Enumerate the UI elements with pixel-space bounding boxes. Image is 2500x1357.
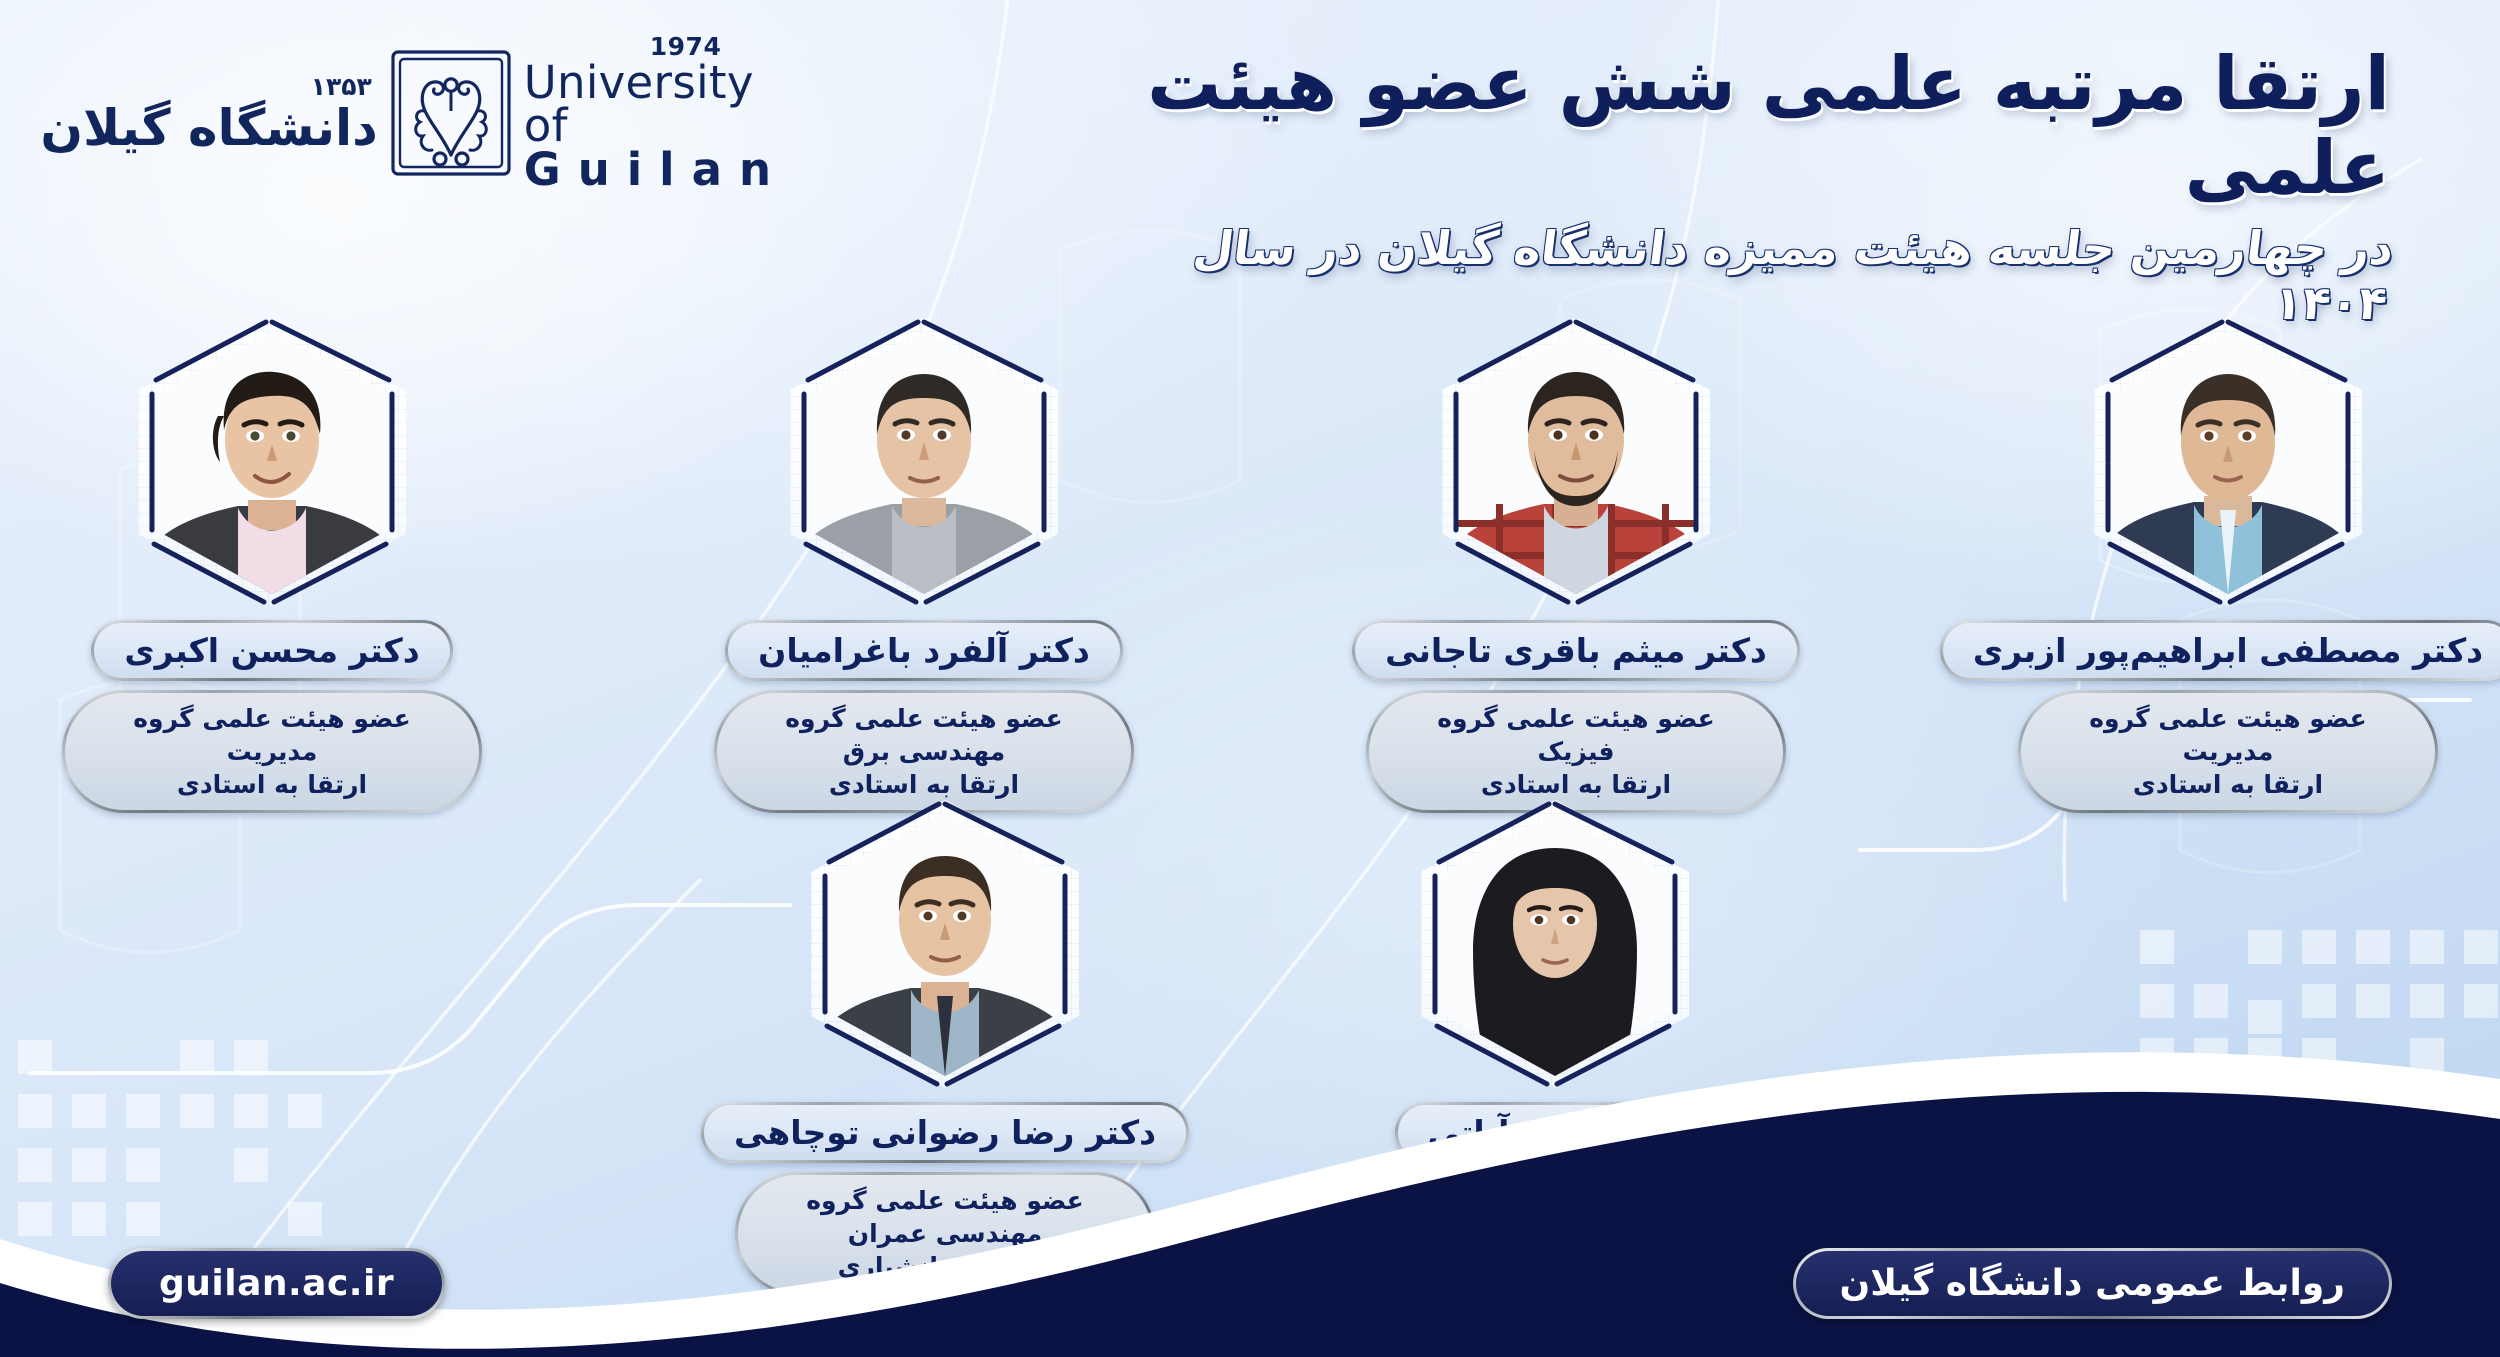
portrait-frame — [2094, 318, 2362, 606]
portrait-frame — [790, 318, 1058, 606]
university-logo: 1974 University of Guilan ۱۳۵۳ دانشگاه گ… — [108, 38, 788, 188]
logo-line2-en: Guilan — [524, 143, 788, 196]
faculty-name-badge: دکتر آلفرد باغرامیان — [725, 620, 1123, 681]
logo-english-text: 1974 University of Guilan — [524, 35, 788, 191]
hexagon-accent-stroke — [1438, 314, 1714, 610]
faculty-card[interactable]: دکتر مصطفی ابراهیم‌پور ازبری عضو هیئت عل… — [2018, 318, 2438, 813]
guilan-emblem-icon — [388, 47, 514, 179]
faculty-name: دکتر میثم باقری تاجانی — [1355, 623, 1797, 678]
website-badge[interactable]: guilan.ac.ir — [108, 1248, 445, 1319]
faculty-role-badge: عضو هیئت علمی گروه مهندسی برقارتقا به اس… — [714, 690, 1134, 813]
faculty-card[interactable]: دکتر آلفرد باغرامیان عضو هیئت علمی گروه … — [714, 318, 1134, 813]
faculty-name: دکتر محسن اکبری — [94, 623, 449, 678]
faculty-name-badge: دکتر محسن اکبری — [91, 620, 452, 681]
faculty-name: دکتر آلفرد باغرامیان — [728, 623, 1120, 678]
page-title: ارتقا مرتبه علمی شش عضو هیئت علمی — [1090, 42, 2390, 211]
public-relations-label: روابط عمومی دانشگاه گیلان — [1796, 1251, 2389, 1316]
faculty-role: عضو هیئت علمی گروه مهندسی برقارتقا به اس… — [717, 693, 1131, 810]
faculty-card[interactable]: دکتر میثم باقری تاجانی عضو هیئت علمی گرو… — [1366, 318, 1786, 813]
hexagon-accent-stroke — [786, 314, 1062, 610]
title-block: ارتقا مرتبه علمی شش عضو هیئت علمی در چها… — [1090, 42, 2390, 331]
faculty-role: عضو هیئت علمی گروه مدیریتارتقا به استادی — [2021, 693, 2435, 810]
public-relations-badge: روابط عمومی دانشگاه گیلان — [1793, 1248, 2392, 1319]
portrait-frame — [1442, 318, 1710, 606]
faculty-role-badge: عضو هیئت علمی گروه فیزیکارتقا به استادی — [1366, 690, 1786, 813]
faculty-role: عضو هیئت علمی گروه مدیریتارتقا به استادی — [65, 693, 479, 810]
logo-persian-text: ۱۳۵۳ دانشگاه گیلان — [40, 74, 377, 153]
poster-canvas: 1974 University of Guilan ۱۳۵۳ دانشگاه گ… — [0, 0, 2500, 1357]
logo-line1-en: University of — [524, 56, 754, 152]
faculty-role-badge: عضو هیئت علمی گروه مدیریتارتقا به استادی — [62, 690, 482, 813]
hexagon-accent-stroke — [2090, 314, 2366, 610]
portrait-frame — [138, 318, 406, 606]
faculty-row-top: دکتر مصطفی ابراهیم‌پور ازبری عضو هیئت عل… — [0, 318, 2500, 813]
faculty-name-badge: دکتر مصطفی ابراهیم‌پور ازبری — [1940, 620, 2500, 681]
logo-year-fa: ۱۳۵۳ — [40, 74, 371, 99]
faculty-role-badge: عضو هیئت علمی گروه مدیریتارتقا به استادی — [2018, 690, 2438, 813]
faculty-name-badge: دکتر میثم باقری تاجانی — [1352, 620, 1800, 681]
logo-line1-fa: دانشگاه گیلان — [40, 99, 377, 157]
website-url: guilan.ac.ir — [111, 1251, 442, 1316]
faculty-name: دکتر مصطفی ابراهیم‌پور ازبری — [1943, 623, 2500, 678]
faculty-card[interactable]: دکتر محسن اکبری عضو هیئت علمی گروه مدیری… — [62, 318, 482, 813]
hexagon-accent-stroke — [134, 314, 410, 610]
faculty-role: عضو هیئت علمی گروه فیزیکارتقا به استادی — [1369, 693, 1783, 810]
